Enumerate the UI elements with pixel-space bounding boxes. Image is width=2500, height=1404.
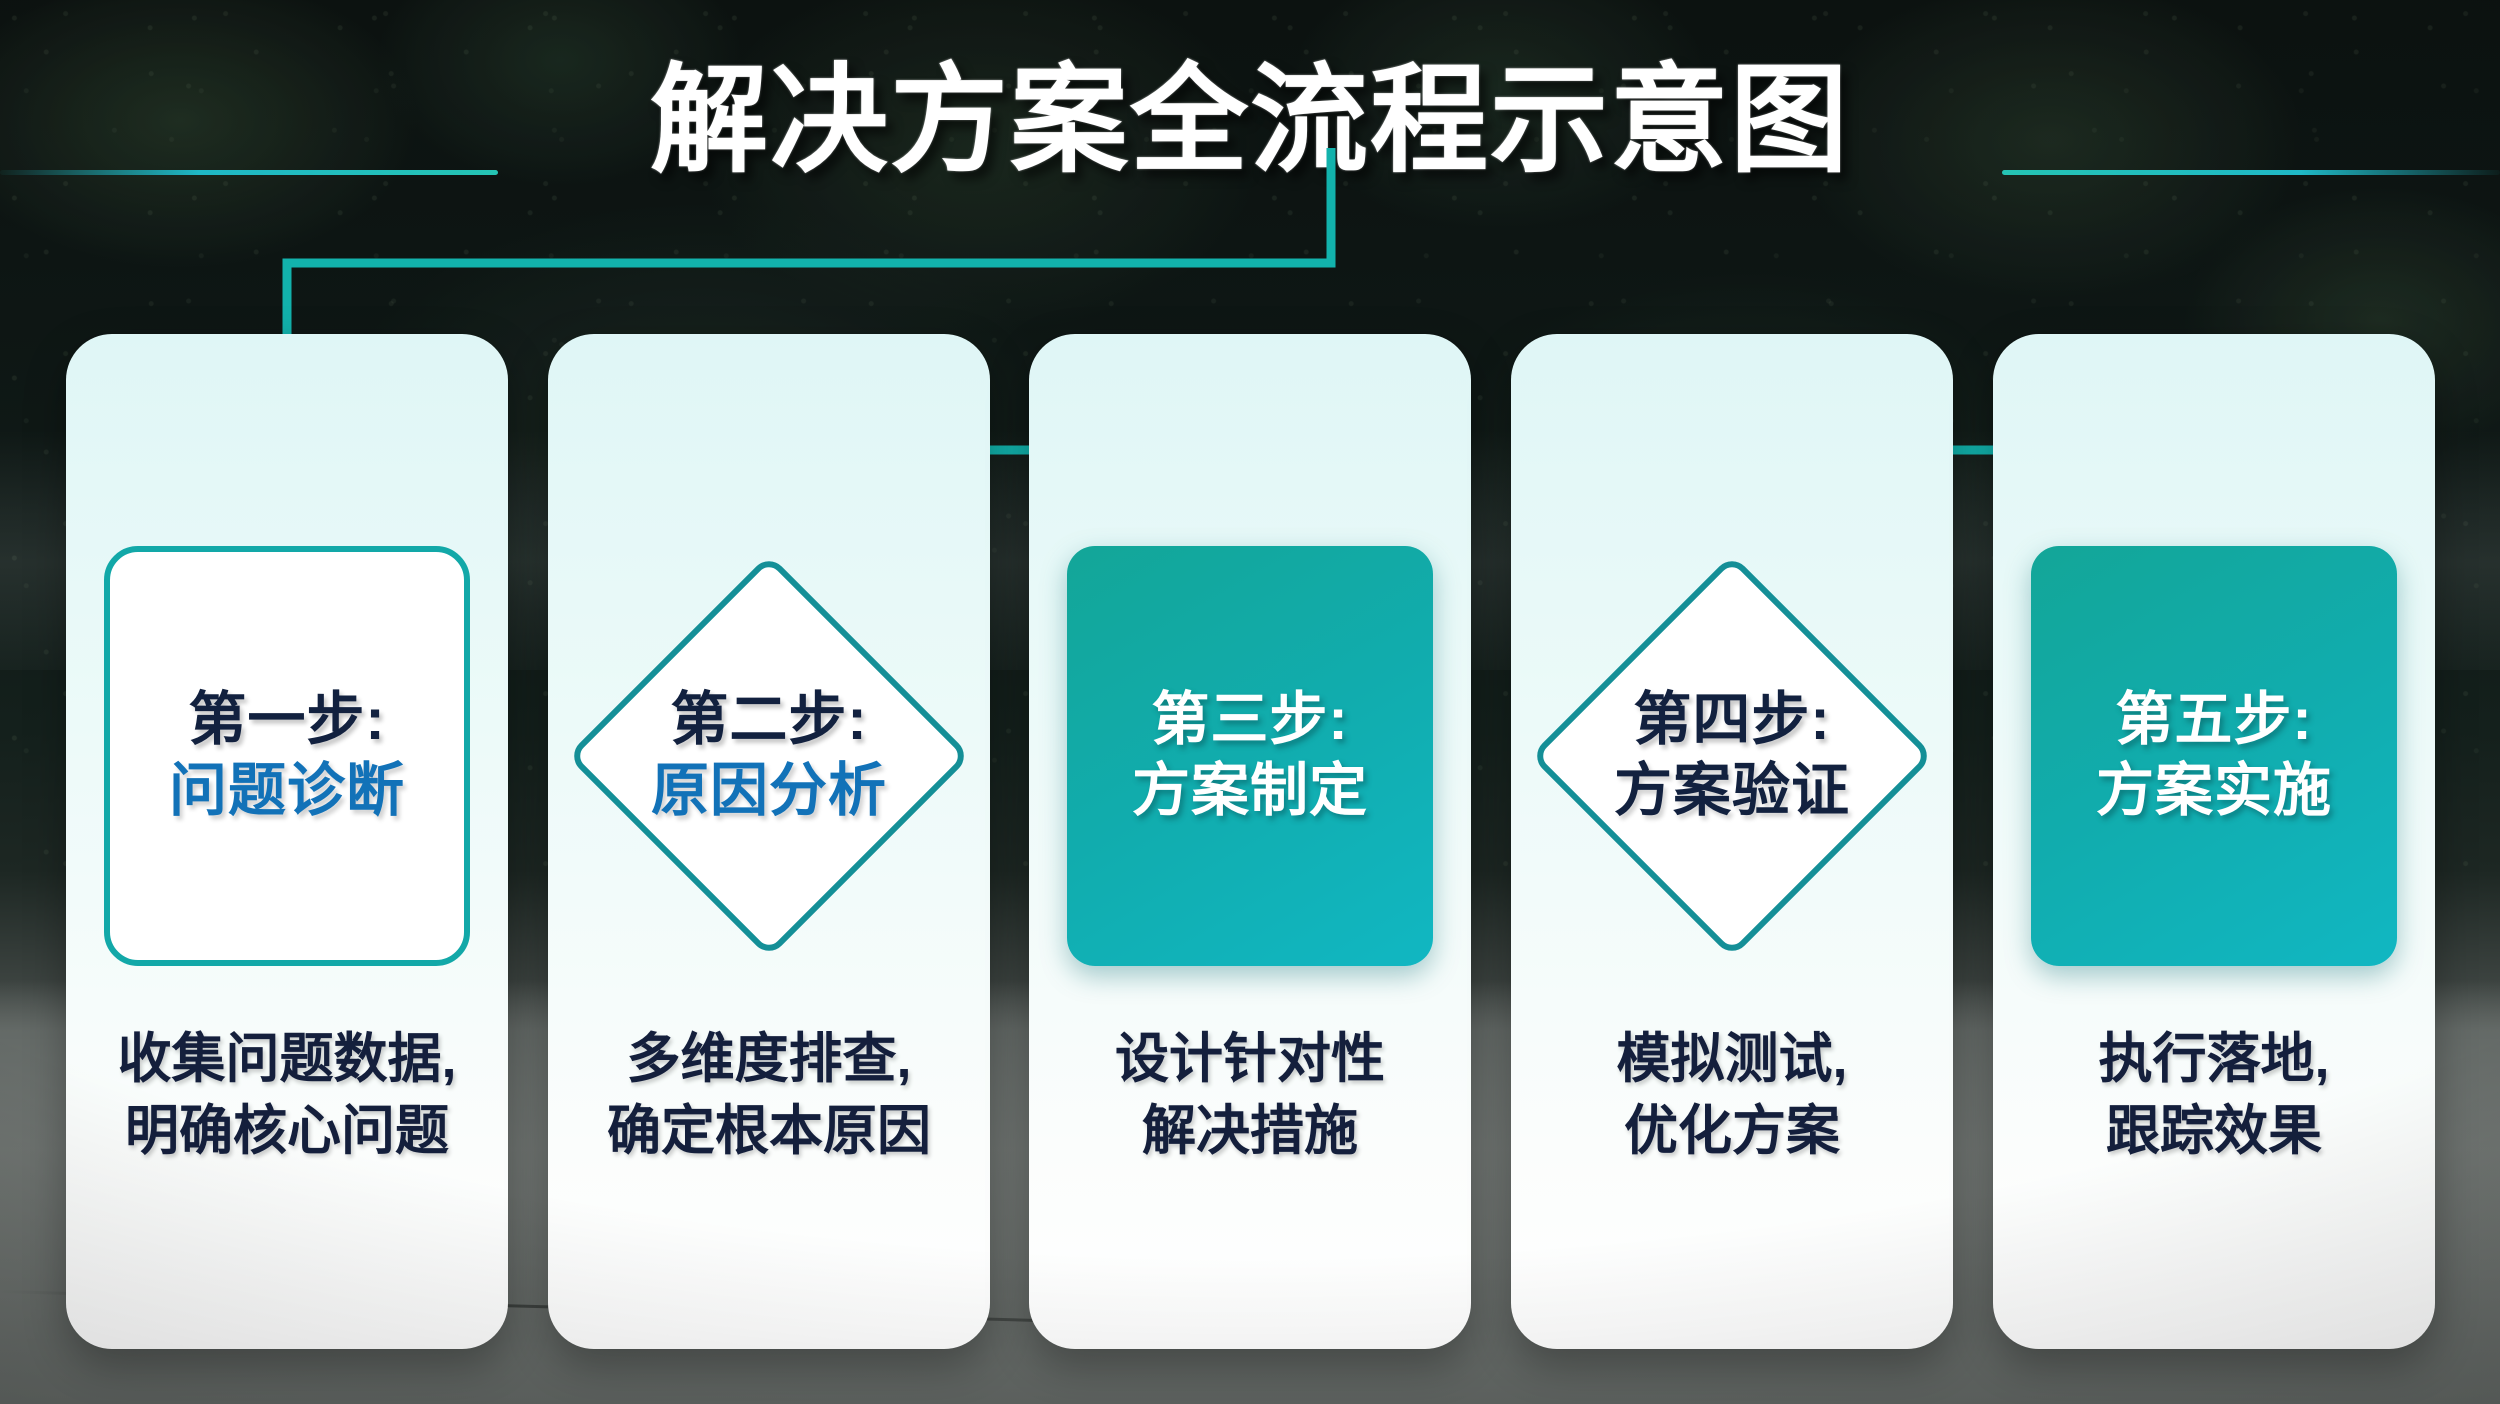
step-card-4-body: 第四步: 方案验证 模拟测试, 优化方案: [1511, 334, 1953, 1349]
step-1-description: 收集问题数据, 明确核心问题: [92, 1024, 482, 1168]
step-2-label: 第二步:: [651, 685, 887, 756]
step-card-1[interactable]: 第一步: 问题诊断 收集问题数据, 明确核心问题: [66, 334, 508, 1349]
step-5-labels: 第五步: 方案实施: [2096, 685, 2332, 827]
step-card-1-body: 第一步: 问题诊断 收集问题数据, 明确核心问题: [66, 334, 508, 1349]
step-1-name: 问题诊断: [169, 756, 405, 827]
step-card-2-body: 第二步: 原因分析 多维度排查, 确定根本原因: [548, 334, 990, 1349]
step-card-5-body: 第五步: 方案实施 执行落地, 跟踪效果: [1993, 334, 2435, 1349]
step-1-labels: 第一步: 问题诊断: [169, 685, 405, 827]
step-4-label: 第四步:: [1614, 685, 1850, 756]
step-3-description: 设计针对性 解决措施: [1055, 1024, 1445, 1168]
step-5-description: 执行落地, 跟踪效果: [2019, 1024, 2409, 1168]
step-card-5[interactable]: 第五步: 方案实施 执行落地, 跟踪效果: [1993, 334, 2435, 1349]
step-2-description: 多维度排查, 确定根本原因: [574, 1024, 964, 1168]
step-3-name: 方案制定: [1132, 756, 1368, 827]
step-2-shape-diamond: 第二步: 原因分析: [569, 556, 969, 956]
step-card-4[interactable]: 第四步: 方案验证 模拟测试, 优化方案: [1511, 334, 1953, 1349]
slide-canvas: 解决方案全流程示意图 第一步: 问题诊断: [0, 0, 2500, 1404]
step-3-label: 第三步:: [1132, 685, 1368, 756]
step-1-label: 第一步:: [169, 685, 405, 756]
step-card-rail: 第一步: 问题诊断 收集问题数据, 明确核心问题 第二步: 原因分析 多维度排查…: [0, 0, 2500, 1404]
step-4-description: 模拟测试, 优化方案: [1537, 1024, 1927, 1168]
step-card-3-body: 第三步: 方案制定 设计针对性 解决措施: [1029, 334, 1471, 1349]
step-2-name: 原因分析: [651, 756, 887, 827]
step-card-2[interactable]: 第二步: 原因分析 多维度排查, 确定根本原因: [548, 334, 990, 1349]
step-4-name: 方案验证: [1614, 756, 1850, 827]
step-2-labels: 第二步: 原因分析: [651, 685, 887, 827]
step-3-labels: 第三步: 方案制定: [1132, 685, 1368, 827]
step-4-shape-diamond: 第四步: 方案验证: [1532, 556, 1932, 956]
step-1-shape-rounded-square: 第一步: 问题诊断: [104, 546, 470, 966]
step-5-name: 方案实施: [2096, 756, 2332, 827]
step-4-labels: 第四步: 方案验证: [1614, 685, 1850, 827]
step-3-shape-filled-square: 第三步: 方案制定: [1067, 546, 1433, 966]
step-5-shape-filled-square: 第五步: 方案实施: [2031, 546, 2397, 966]
step-card-3[interactable]: 第三步: 方案制定 设计针对性 解决措施: [1029, 334, 1471, 1349]
step-5-label: 第五步:: [2096, 685, 2332, 756]
